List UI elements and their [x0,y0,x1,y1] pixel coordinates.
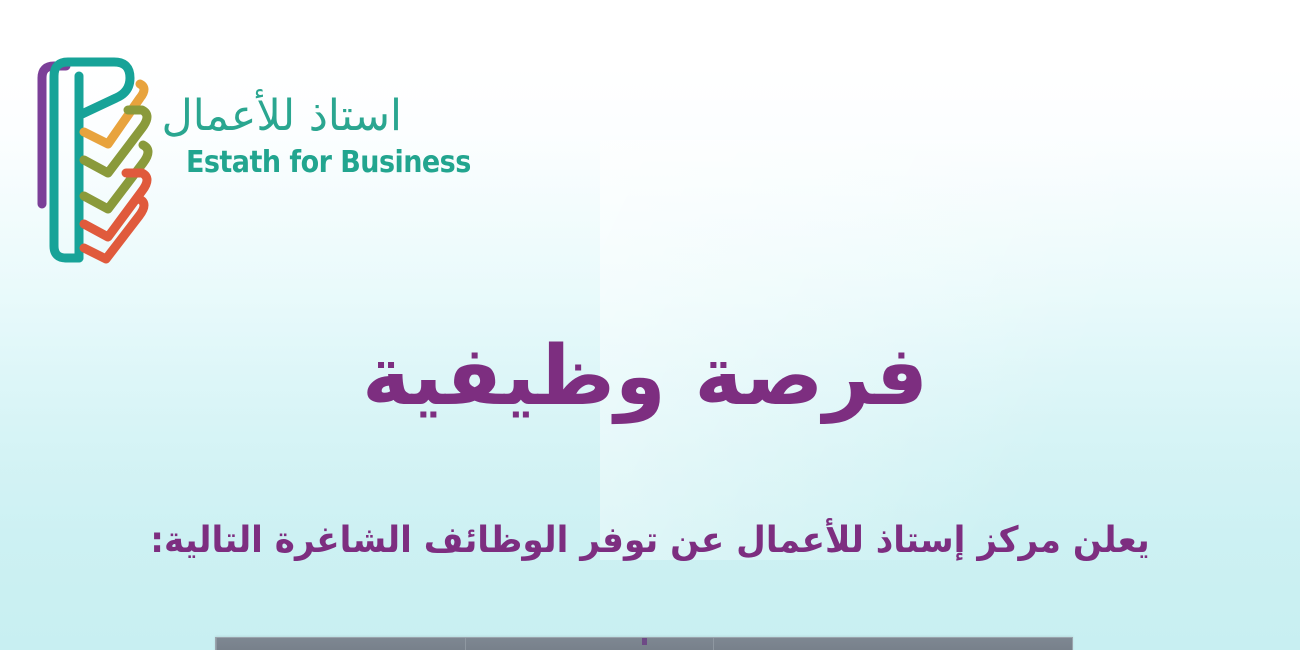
page-subtitle-text: يعلن مركز إستاذ للأعمال عن توفر الوظائف … [150,518,1149,563]
brand-logo: استاذ للأعمال Estath for Business [22,36,402,266]
page-title-text: فرصة وظيفية [362,330,928,424]
jobs-table-header-cell-3: الخبرة [216,638,465,650]
jobs-table-header-cell-1: المسمى الوظيفي [713,638,962,650]
logo-english-name: Estath for Business [186,145,402,180]
logo-arabic-name: استاذ للأعمال [162,94,402,139]
table-center-marker [642,638,647,645]
logo-wordmark: استاذ للأعمال Estath for Business [162,94,402,249]
jobs-table-header-cell-2: المؤهل العلمي [465,638,714,650]
jobs-table: الخبرة المؤهل العلمي المسمى الوظيفي م [215,637,1073,650]
job-opportunity-poster: استاذ للأعمال Estath for Business فرصة و… [0,0,1300,650]
jobs-table-header-cell-0: م [962,638,1072,650]
page-subtitle: يعلن مركز إستاذ للأعمال عن توفر الوظائف … [0,518,1300,563]
page-title: فرصة وظيفية [0,330,1300,424]
estath-book-logo-icon [22,36,158,264]
